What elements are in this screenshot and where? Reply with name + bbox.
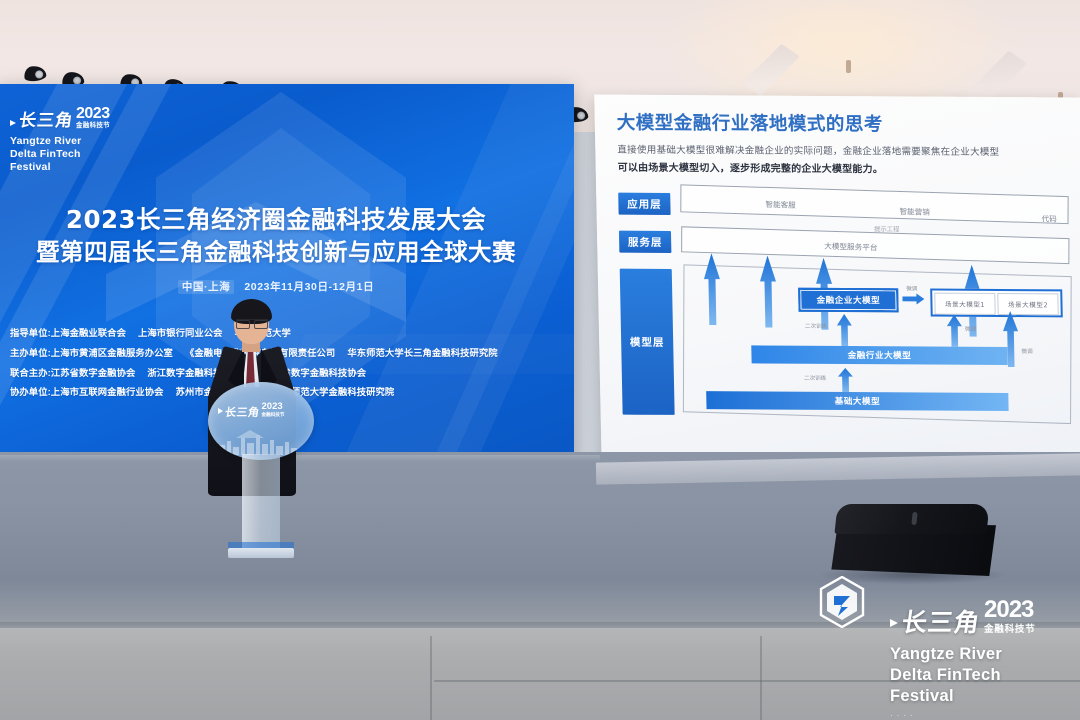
podium: 长三角 2023 金融科技节	[208, 382, 314, 564]
arrow-label-retrain-2: 二次训练	[804, 374, 827, 382]
enterprise-model-box: 金融企业大模型	[798, 288, 899, 313]
logo-arrow-icon	[218, 408, 223, 414]
podium-logo-year: 2023	[262, 401, 283, 412]
logo-cn-sub: 金融科技节	[76, 123, 110, 130]
slide-subtitle-line2: 可以由场景大模型切入，逐步形成完整的企业大模型能力。	[617, 159, 1080, 177]
layer-tag-application: 应用层	[618, 193, 670, 215]
organizer-label: 指导单位:	[10, 328, 51, 338]
watermark-text: 长三角 2023 金融科技节 Yangtze River Delta FinTe…	[890, 598, 1036, 720]
service-item-1: 大模型服务平台	[824, 241, 877, 254]
slide-subtitle-line1: 直接使用基础大模型很难解决金融企业的实际问题，金融企业落地需要聚焦在企业大模型	[617, 142, 1080, 159]
ceiling-fixture	[846, 60, 851, 73]
stage-monitor-speaker	[828, 504, 996, 578]
backdrop-festival-logo: 长三角 2023 金融科技节 Yangtze River Delta FinTe…	[10, 106, 170, 175]
podium-logo-panel: 长三角 2023 金融科技节	[208, 382, 314, 460]
app-item-1: 智能营销	[899, 206, 929, 218]
projection-screen: 大模型金融行业落地模式的思考 直接使用基础大模型很难解决金融企业的实际问题，金融…	[594, 95, 1080, 468]
watermark-cn-mark: 长三角	[900, 610, 982, 635]
watermark-cn-sub: 金融科技节	[984, 625, 1036, 635]
arrow-label-retrain: 二次训练	[805, 322, 828, 330]
slide-diagram: 应用层 智能客服 智能营销 代码 服务层 提示工程 大模型服务平台 模型层	[618, 187, 1075, 440]
podium-festival-logo: 长三角 2023 金融科技节	[218, 397, 304, 418]
organizer-entity: 上海市黄浦区金融服务办公室	[51, 348, 173, 358]
organizer-entity: 上海市互联网金融行业协会	[51, 387, 164, 397]
podium-stem	[242, 454, 280, 552]
organizer-entity: 江苏省数字金融协会	[51, 368, 136, 378]
event-dates: 2023年11月30日-12月1日	[244, 281, 374, 293]
app-item-2: 代码	[1041, 213, 1056, 224]
logo-cn-mark: 长三角	[18, 113, 74, 130]
watermark-en-line3: Festival	[890, 686, 1036, 707]
glasses-icon	[236, 319, 268, 327]
service-layer-bar: 大模型服务平台	[681, 226, 1069, 264]
layer-tag-model: 模型层	[620, 269, 675, 415]
organizer-label: 联合主办:	[10, 368, 51, 378]
watermark-year: 2023	[984, 596, 1033, 623]
industry-model-box: 金融行业大模型	[751, 345, 1007, 365]
scene-model-group: 场景大模型1 场景大模型2	[930, 289, 1063, 318]
application-layer-bar: 智能客服 智能营销 代码	[680, 184, 1068, 224]
layer-tag-service: 服务层	[619, 231, 671, 253]
logo-en-line3: Festival	[10, 161, 170, 174]
event-title-block: 2023长三角经济圈金融科技发展大会 暨第四届长三角金融科技创新与应用全球大赛 …	[0, 204, 556, 294]
app-item-0: 智能客服	[765, 199, 795, 211]
scene-model-box-2: 场景大模型2	[997, 293, 1058, 315]
floor-tile-line	[760, 636, 762, 720]
arrow-label-finetune-3: 微调	[1021, 347, 1032, 355]
organizer-entity: 华东师范大学长三角金融科技研究院	[347, 348, 497, 358]
podium-logo-cn: 长三角	[224, 407, 260, 418]
slide-title: 大模型金融行业落地模式的思考	[616, 109, 1080, 138]
logo-en-line1: Yangtze River	[10, 135, 170, 148]
organizer-label: 协办单位:	[10, 387, 51, 397]
event-title-line1: 2023长三角经济圈金融科技发展大会	[0, 204, 556, 237]
skyline-icon	[216, 429, 306, 455]
floor-tile-line	[430, 636, 432, 720]
arrow-label-finetune: 微调	[906, 284, 917, 292]
conference-stage-photo: 长三角 2023 金融科技节 Yangtze River Delta FinTe…	[0, 0, 1080, 720]
event-location: 中国·上海	[178, 280, 235, 294]
organizer-entity: 上海金融业联合会	[51, 328, 126, 338]
event-meta: 中国·上海2023年11月30日-12月1日	[0, 279, 556, 294]
event-title-line2: 暨第四届长三角金融科技创新与应用全球大赛	[0, 237, 556, 268]
hexagon-logo-icon	[818, 576, 866, 628]
scene-model-box-1: 场景大模型1	[934, 293, 995, 315]
logo-en-line2: Delta FinTech	[10, 148, 170, 161]
podium-logo-sub: 金融科技节	[262, 413, 285, 418]
logo-arrow-icon	[890, 619, 898, 627]
arrow-label-finetune-2: 微调	[965, 325, 976, 333]
logo-year: 2023	[76, 105, 110, 122]
organizer-label: 主办单位:	[10, 348, 51, 358]
base-model-box: 基础大模型	[706, 391, 1008, 411]
watermark-en-line2: Delta FinTech	[890, 665, 1036, 686]
watermark-en-line1: Yangtze River	[890, 644, 1036, 665]
logo-arrow-icon	[10, 120, 16, 126]
podium-base	[228, 548, 294, 558]
watermark-dots: ····	[890, 712, 1036, 720]
